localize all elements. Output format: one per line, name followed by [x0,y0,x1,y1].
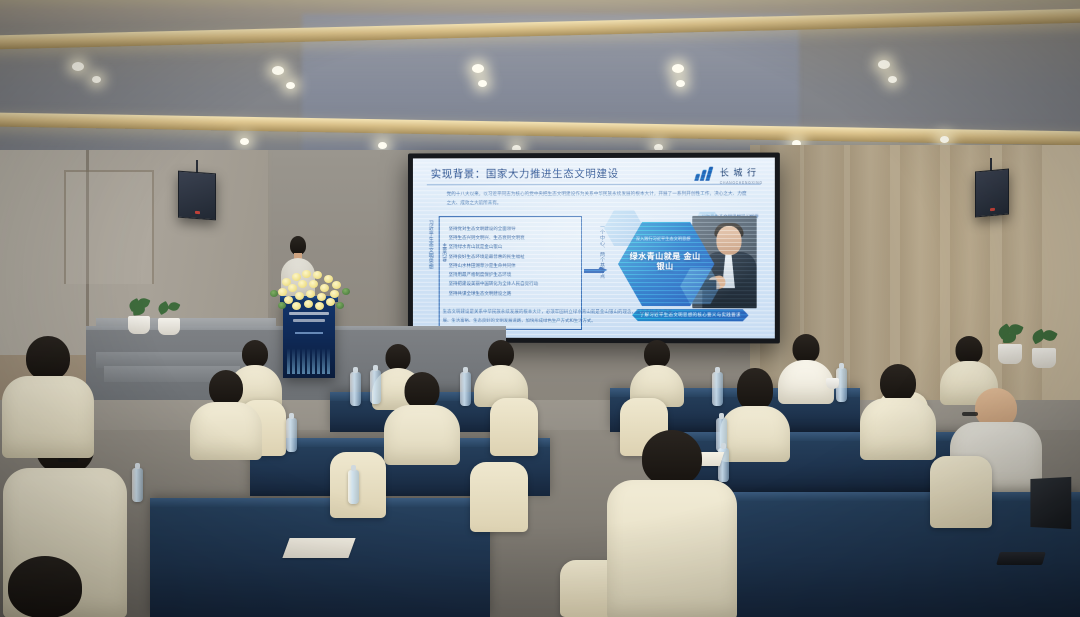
slide-footnote: 生态文明建设是关系中华民族永续发展的根本大计，必须牢固树立绿水青山就是金山银山的… [443,308,672,326]
recessed-downlight [272,66,284,75]
list-item: 坚持共谋全球生态文明建设之路 [449,288,576,297]
company-logo: 长 城 行 CHANGCHENGXING [696,163,763,185]
recessed-downlight [940,136,949,143]
slide-left-vertical-label: 习近平生态文明思想 [423,220,434,324]
recessed-downlight [472,64,484,73]
list-item: 坚持把建设美丽中国转化为全体人民自觉行动 [449,279,576,288]
projection-screen[interactable]: 实现背景：国家大力推进生态文明建设 长 城 行 CHANGCHENGXING 党… [408,153,780,344]
podium-skyline-graphic [287,348,331,374]
potted-plant [1032,330,1056,368]
slide-lead-text: 党的十八大以来，以习近平同志为核心的党中央把生态文明建设作为关系中华民族永续发展… [447,190,747,208]
laptop [1016,478,1072,532]
banquet-chair [930,456,992,528]
potted-plant [158,302,180,335]
audience-member [604,430,740,617]
audience-member [628,340,686,404]
list-item: 坚持党对生态文明建设的全面领导 [449,224,576,233]
banquet-chair [470,462,528,532]
list-item: 坚持绿水青山就是金山银山 [449,242,576,251]
recessed-downlight [878,60,890,69]
tea-cup [826,378,839,389]
glasses-icon [962,412,978,416]
handout-paper [282,538,355,558]
logo-mark-icon [696,167,716,181]
podium-banner-line2 [293,319,325,322]
door-frame[interactable] [64,170,154,284]
hex-small-text: 深入践行习近平生态文明思想 [626,236,700,242]
audience-member [858,364,938,458]
audience-member [0,336,96,456]
wall-speaker [178,171,216,221]
audience-member [188,370,264,458]
recessed-downlight [378,142,387,149]
smartphone [996,552,1046,565]
wall-speaker [975,169,1009,218]
recessed-downlight [240,138,249,145]
banquet-chair [490,398,538,456]
slide-graphic: 深入践行习近平生态文明思想 绿水青山就是 金山银山 了解习近平生态文明思想的核心… [618,216,759,321]
potted-plant [998,326,1022,364]
water-bottle [370,370,381,404]
slide-list: 坚持党对生态文明建设的全面领导 坚持生态兴则文明兴、生态衰则文明衰 坚持绿水青山… [440,217,581,298]
list-item: 坚持山水林田湖草沙是生命共同体 [449,261,576,270]
recessed-downlight [672,64,684,73]
audience-member [472,340,530,404]
list-item: 坚持生态兴则文明兴、生态衰则文明衰 [449,233,576,242]
conference-hall-photo: 实现背景：国家大力推进生态文明建设 长 城 行 CHANGCHENGXING 党… [0,0,1080,617]
logo-text: 长 城 行 CHANGCHENGXING [720,163,763,185]
water-bottle [350,372,361,406]
slide-surface: 实现背景：国家大力推进生态文明建设 长 城 行 CHANGCHENGXING 党… [413,158,775,339]
podium-banner-sub [295,332,323,334]
recessed-downlight [72,62,84,71]
recessed-downlight [478,80,487,87]
water-bottle [132,468,143,502]
slide-title: 实现背景：国家大力推进生态文明建设 [431,166,619,181]
list-item: 坚持用最严格制度保护生态环境 [449,270,576,279]
recessed-downlight [888,76,897,83]
flower-arrangement [268,268,354,318]
recessed-downlight [92,76,101,83]
water-bottle [286,418,297,452]
water-bottle [348,470,359,504]
audience-member [382,372,462,464]
slide-right-vertical-label: 一个中心、两个基本点 [594,224,605,320]
recessed-downlight [286,82,295,89]
slide-list-tag: 主要内容 [439,243,448,261]
ceiling [0,0,1080,160]
recessed-downlight [676,80,685,87]
potted-plant [128,300,150,334]
glasses-icon [58,458,78,462]
audience-member [0,556,90,617]
list-item: 坚持良好生态环境是最普惠的民生福祉 [449,252,576,261]
